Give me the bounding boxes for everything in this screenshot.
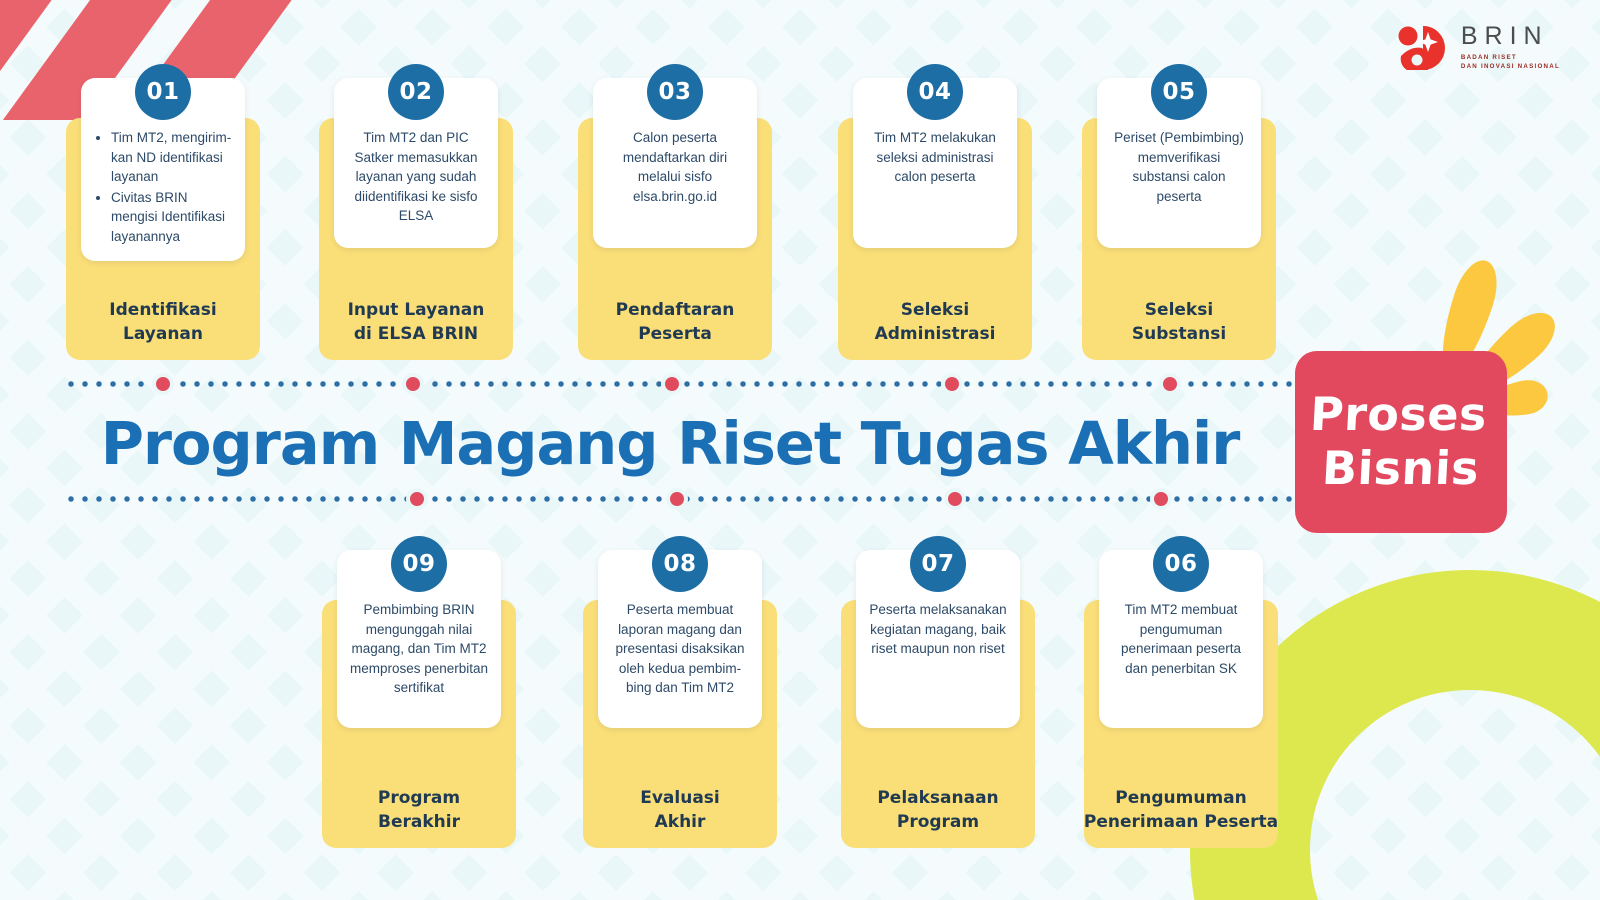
step-card-02: 02Tim MT2 dan PIC Satker memasukkan laya… — [319, 78, 513, 360]
step-card-05: 05Periset (Pembimbing) memverifikasi sub… — [1082, 78, 1276, 360]
step-number-badge: 07 — [910, 536, 966, 592]
step-number-badge: 06 — [1153, 536, 1209, 592]
step-number-badge: 09 — [391, 536, 447, 592]
step-label-line-1: Pengumuman — [1115, 788, 1246, 808]
step-description: Peserta membuat laporan magang dan prese… — [598, 592, 762, 712]
brin-wordmark: BRIN — [1461, 24, 1560, 49]
step-card-01: 01Tim MT2, mengirim-kan ND identifikasi … — [66, 78, 260, 360]
step-label: IdentifikasiLayanan — [66, 298, 260, 346]
brin-tagline: BADAN RISETDAN INOVASI NASIONAL — [1461, 54, 1560, 72]
step-label-line-2: Peserta — [638, 324, 712, 344]
step-card-07: 07Peserta melaksanakan kegiatan magang, … — [841, 550, 1035, 848]
step-label-line-2: Layanan — [123, 324, 203, 344]
step-label-line-1: Program — [378, 788, 460, 808]
step-label: Input Layanandi ELSA BRIN — [319, 298, 513, 346]
step-label: SeleksiSubstansi — [1082, 298, 1276, 346]
brin-logo-mark — [1395, 24, 1449, 72]
step-label-line-1: Evaluasi — [640, 788, 720, 808]
step-card-panel: 04Tim MT2 melakukan seleksi administrasi… — [853, 78, 1017, 248]
badge-line-1: Proses — [1308, 390, 1494, 440]
step-card-panel: 07Peserta melaksanakan kegiatan magang, … — [856, 550, 1020, 728]
step-label-line-1: Seleksi — [901, 300, 969, 320]
step-label: ProgramBerakhir — [322, 786, 516, 834]
step-card-panel: 03Calon peserta mendaftarkan diri melalu… — [593, 78, 757, 248]
step-label-line-1: Identifikasi — [109, 300, 216, 320]
step-label: SeleksiAdministrasi — [838, 298, 1032, 346]
step-label-line-2: Substansi — [1132, 324, 1226, 344]
step-label-line-2: Berakhir — [378, 812, 460, 832]
step-label-line-1: Seleksi — [1145, 300, 1213, 320]
step-bullet-item: Civitas BRIN mengisi Identifikasi layana… — [111, 188, 233, 247]
step-label: PengumumanPenerimaan Peserta — [1073, 786, 1289, 834]
step-label-line-2: di ELSA BRIN — [354, 324, 478, 344]
badge-line-2: Bisnis — [1321, 444, 1481, 494]
step-card-panel: 01Tim MT2, mengirim-kan ND identifikasi … — [81, 78, 245, 261]
step-number-badge: 01 — [135, 64, 191, 120]
step-label-line-2: Akhir — [655, 812, 706, 832]
step-card-09: 09Pembimbing BRIN mengunggah nilai magan… — [322, 550, 516, 848]
timeline-dot-top-1 — [152, 373, 174, 395]
step-description: Tim MT2, mengirim-kan ND identifikasi la… — [81, 120, 245, 261]
step-bullet-item: Tim MT2, mengirim-kan ND identifikasi la… — [111, 128, 233, 187]
timeline-dot-top-4 — [941, 373, 963, 395]
step-description: Periset (Pembimbing) memverifikasi subst… — [1097, 120, 1261, 220]
timeline-dot-bottom-4 — [1150, 488, 1172, 510]
step-number-badge: 03 — [647, 64, 703, 120]
page-title: Program Magang Riset Tugas Akhir — [0, 409, 1340, 478]
timeline-dot-top-5 — [1159, 373, 1181, 395]
step-number-badge: 08 — [652, 536, 708, 592]
step-card-04: 04Tim MT2 melakukan seleksi administrasi… — [838, 78, 1032, 360]
step-card-panel: 02Tim MT2 dan PIC Satker memasukkan laya… — [334, 78, 498, 248]
timeline-dot-bottom-3 — [944, 488, 966, 510]
timeline-dot-bottom-1 — [406, 488, 428, 510]
step-label: PelaksanaanProgram — [841, 786, 1035, 834]
step-description: Tim MT2 membuat pengumuman penerimaan pe… — [1099, 592, 1263, 692]
step-number-badge: 04 — [907, 64, 963, 120]
step-number-badge: 02 — [388, 64, 444, 120]
step-card-panel: 08Peserta membuat laporan magang dan pre… — [598, 550, 762, 728]
step-label-line-1: Input Layanan — [348, 300, 485, 320]
step-description: Calon peserta mendaftarkan diri melalui … — [593, 120, 757, 220]
step-description: Tim MT2 dan PIC Satker memasukkan layana… — [334, 120, 498, 240]
step-description: Peserta melaksanakan kegiatan magang, ba… — [856, 592, 1020, 673]
timeline-dot-bottom-2 — [666, 488, 688, 510]
step-card-03: 03Calon peserta mendaftarkan diri melalu… — [578, 78, 772, 360]
step-card-panel: 06Tim MT2 membuat pengumuman penerimaan … — [1099, 550, 1263, 728]
step-card-panel: 05Periset (Pembimbing) memverifikasi sub… — [1097, 78, 1261, 248]
step-label: PendaftaranPeserta — [578, 298, 772, 346]
step-card-06: 06Tim MT2 membuat pengumuman penerimaan … — [1084, 550, 1278, 848]
step-card-panel: 09Pembimbing BRIN mengunggah nilai magan… — [337, 550, 501, 728]
step-label-line-2: Penerimaan Peserta — [1084, 812, 1278, 832]
brin-logo: BRIN BADAN RISETDAN INOVASI NASIONAL — [1395, 24, 1560, 72]
step-label-line-2: Administrasi — [875, 324, 996, 344]
step-bullet-list: Tim MT2, mengirim-kan ND identifikasi la… — [93, 128, 233, 246]
step-card-08: 08Peserta membuat laporan magang dan pre… — [583, 550, 777, 848]
step-number-badge: 05 — [1151, 64, 1207, 120]
step-label-line-2: Program — [897, 812, 979, 832]
timeline-dot-top-3 — [661, 373, 683, 395]
step-description: Pembimbing BRIN mengunggah nilai magang,… — [337, 592, 501, 712]
timeline-dot-top-2 — [402, 373, 424, 395]
step-description: Tim MT2 melakukan seleksi administrasi c… — [853, 120, 1017, 201]
proses-bisnis-badge: Proses Bisnis — [1295, 351, 1507, 533]
step-label-line-1: Pelaksanaan — [877, 788, 998, 808]
step-label: EvaluasiAkhir — [583, 786, 777, 834]
step-label-line-1: Pendaftaran — [616, 300, 735, 320]
